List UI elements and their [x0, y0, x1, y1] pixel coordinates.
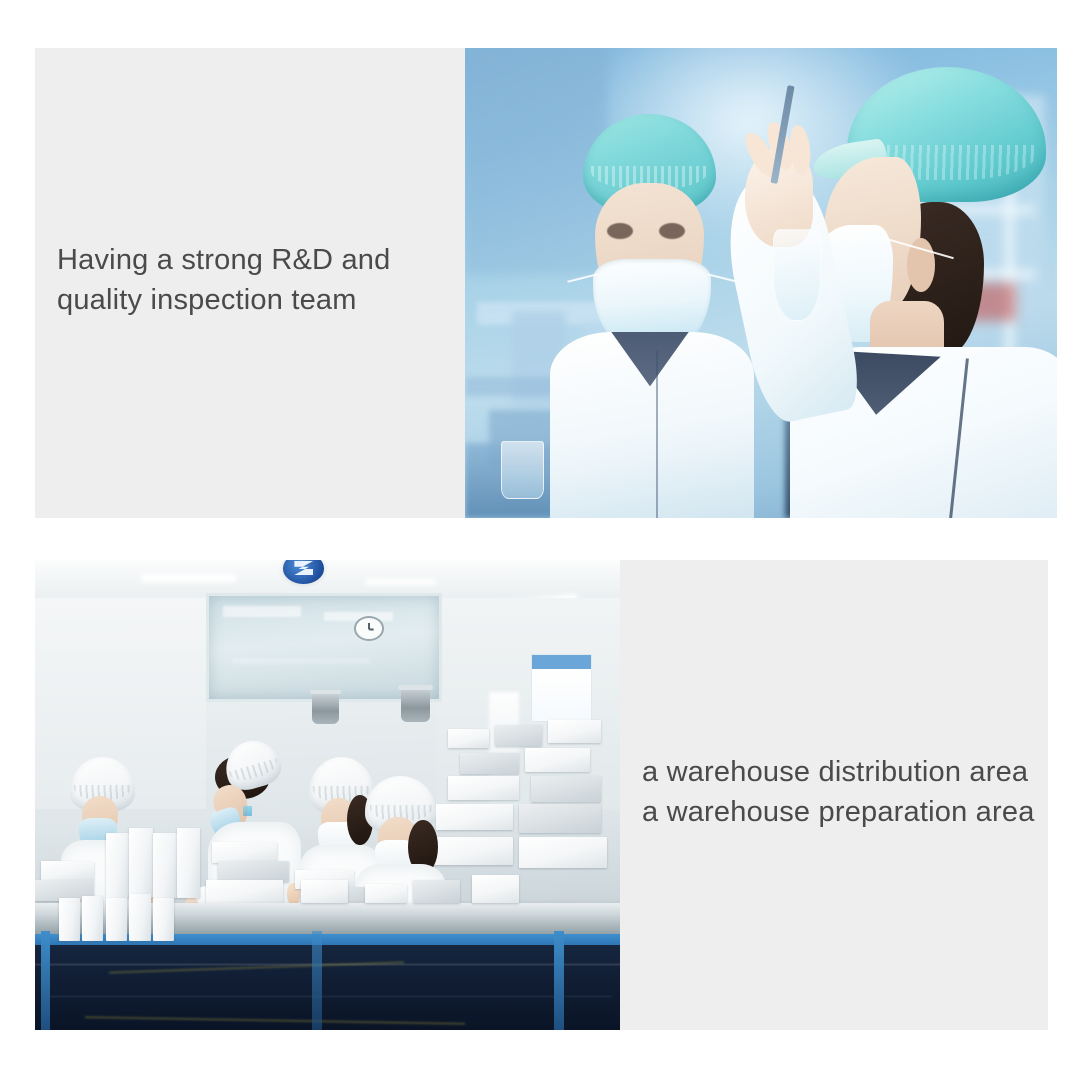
collar: [611, 332, 688, 386]
notice-poster: [531, 654, 592, 722]
table-leg: [312, 931, 321, 1030]
lab-technician-profile: [785, 67, 1057, 518]
table-leg: [554, 931, 563, 1030]
eye-left: [607, 223, 633, 239]
badge: [243, 806, 251, 816]
warehouse-packaging-photo: [35, 560, 625, 1030]
poster-header-bar: [532, 655, 591, 669]
ceiling-light: [365, 579, 436, 586]
rd-quality-inspection-photo: [465, 48, 1057, 518]
table-under-shadow: [35, 945, 625, 1030]
lab-scene-background: [465, 48, 1057, 518]
table-leg: [41, 931, 50, 1030]
lab-coat: [550, 332, 754, 518]
warehouse-caption: a warehouse distribution area a warehous…: [642, 752, 1052, 832]
coat-seam: [656, 351, 658, 518]
lab-technician-front: [536, 114, 773, 518]
packaging-scene-background: [35, 560, 625, 1030]
coat-seam: [949, 358, 969, 518]
wall-clock-icon: [354, 616, 384, 641]
rd-quality-caption: Having a strong R&D and quality inspecti…: [57, 240, 457, 320]
glass-flask-icon: [773, 229, 820, 321]
steel-canister: [312, 692, 339, 725]
ceiling-light: [141, 574, 235, 582]
steel-canister: [401, 687, 431, 722]
